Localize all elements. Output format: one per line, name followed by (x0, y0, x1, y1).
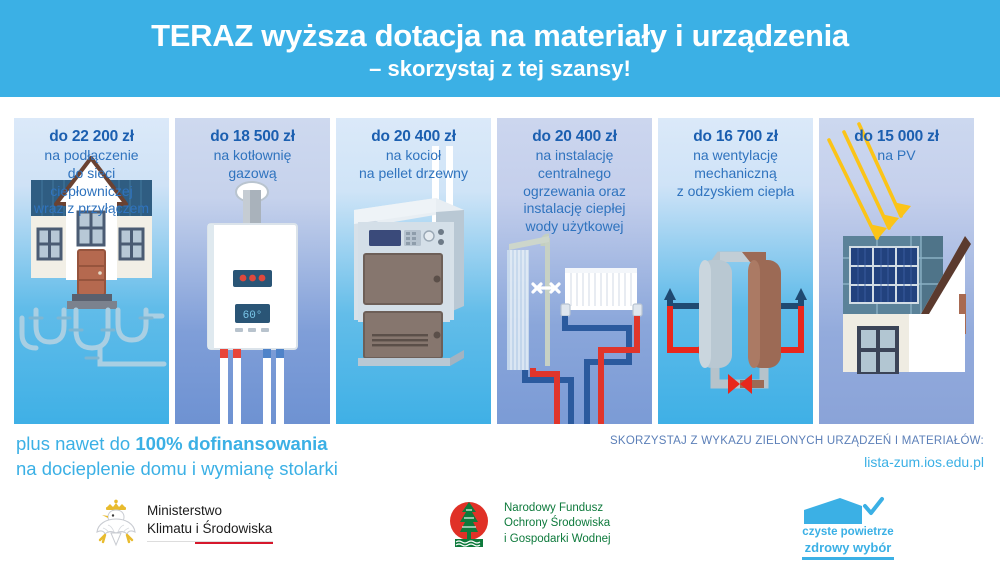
card-text-block: do 20 400 zł na instalacjęcentralnegoogr… (497, 118, 652, 236)
nfosigw-line1: Narodowy Fundusz (504, 501, 611, 516)
polish-eagle-emblem (92, 498, 138, 548)
czyste-powietrze-line2: zdrowy wybór (805, 540, 892, 555)
subsidy-card-central-heating[interactable]: do 20 400 zł na instalacjęcentralnegoogr… (497, 118, 652, 424)
card-text-block: do 20 400 zł na kociołna pellet drzewny (336, 118, 491, 183)
house-with-checkmark-logo (800, 496, 896, 526)
czyste-powietrze-rule (802, 557, 894, 560)
green-products-url[interactable]: lista-zum.ios.edu.pl (610, 452, 984, 473)
card-amount: do 20 400 zł (503, 127, 646, 146)
card-amount: do 15 000 zł (825, 127, 968, 146)
additional-funding-note: plus nawet do 100% dofinansowania na doc… (16, 432, 536, 482)
svg-text:60°: 60° (243, 310, 263, 322)
card-description: na PV (825, 147, 968, 165)
card-description: na wentylacjęmechanicznąz odzyskiem ciep… (664, 147, 807, 200)
card-amount: do 18 500 zł (181, 127, 324, 146)
ministry-line1: Ministerstwo (147, 502, 273, 519)
funding-note-line2: na docieplenie domu i wymianę stolarki (16, 457, 536, 482)
tree-in-red-circle-logo (443, 498, 495, 550)
subsidy-card-district-heating[interactable]: do 22 200 zł na podłączeniedo sieciciepł… (14, 118, 169, 424)
czyste-powietrze-line1: czyste powietrze (802, 526, 893, 540)
logo-czyste-powietrze: czyste powietrze zdrowy wybór (800, 496, 896, 560)
czyste-powietrze-block: czyste powietrze zdrowy wybór (800, 496, 896, 560)
funding-note-prefix: plus nawet do (16, 433, 135, 454)
funding-note-highlight: 100% dofinansowania (135, 433, 327, 454)
nfosigw-line3: i Gospodarki Wodnej (504, 532, 611, 547)
page-header: TERAZ wyższa dotacja na materiały i urzą… (0, 0, 1000, 97)
subsidy-card-photovoltaic[interactable]: do 15 000 zł na PV (819, 118, 974, 424)
card-description: na podłączeniedo sieciciepłowniczejwraz … (20, 147, 163, 218)
card-amount: do 16 700 zł (664, 127, 807, 146)
card-description: na instalacjęcentralnegoogrzewania orazi… (503, 147, 646, 235)
subsidy-card-gas-boiler[interactable]: do 18 500 zł na kotłownięgazową (175, 118, 330, 424)
ministry-line2: Klimatu i Środowiska (147, 520, 273, 537)
card-text-block: do 22 200 zł na podłączeniedo sieciciepł… (14, 118, 169, 218)
card-description: na kotłownięgazową (181, 147, 324, 182)
ministry-flag-rule (147, 541, 273, 544)
nfosigw-text: Narodowy Fundusz Ochrony Środowiska i Go… (504, 501, 611, 547)
subsidy-card-pellet-boiler[interactable]: do 20 400 zł na kociołna pellet drzewny (336, 118, 491, 424)
subsidy-cards-row: do 22 200 zł na podłączeniedo sieciciepł… (14, 118, 986, 424)
card-text-block: do 16 700 zł na wentylacjęmechanicznąz o… (658, 118, 813, 200)
nfosigw-line2: Ochrony Środowiska (504, 516, 611, 531)
page-subtitle: – skorzystaj z tej szansy! (369, 56, 631, 81)
card-text-block: do 15 000 zł na PV (819, 118, 974, 165)
footer-logos: Ministerstwo Klimatu i Środowiska Na (0, 492, 1000, 562)
ministry-text: Ministerstwo Klimatu i Środowiska (147, 502, 273, 544)
logo-ministry-of-climate: Ministerstwo Klimatu i Środowiska (92, 498, 273, 548)
card-amount: do 22 200 zł (20, 127, 163, 146)
funding-note-line1: plus nawet do 100% dofinansowania (16, 432, 536, 457)
green-products-list-note: SKORZYSTAJ Z WYKAZU ZIELONYCH URZĄDZEŃ I… (610, 433, 984, 473)
logo-nfosigw: Narodowy Fundusz Ochrony Środowiska i Go… (443, 498, 611, 550)
card-text-block: do 18 500 zł na kotłownięgazową (175, 118, 330, 183)
page-title: TERAZ wyższa dotacja na materiały i urzą… (151, 19, 849, 54)
card-description: na kociołna pellet drzewny (342, 147, 485, 182)
subsidy-card-heat-recovery[interactable]: do 16 700 zł na wentylacjęmechanicznąz o… (658, 118, 813, 424)
card-amount: do 20 400 zł (342, 127, 485, 146)
green-products-label: SKORZYSTAJ Z WYKAZU ZIELONYCH URZĄDZEŃ I… (610, 433, 984, 450)
